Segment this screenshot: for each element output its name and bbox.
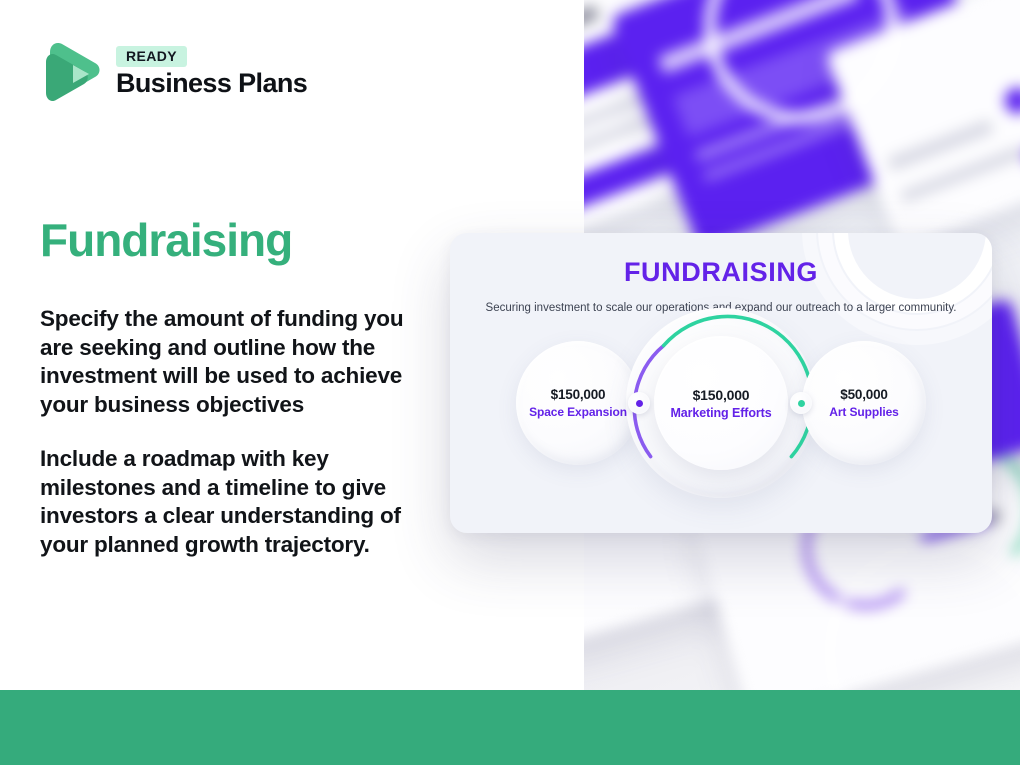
page-title: Fundraising [40, 215, 292, 266]
connector-knob-left [628, 392, 650, 414]
connector-knob-right [790, 392, 812, 414]
body-copy: Specify the amount of funding you are se… [40, 305, 425, 560]
funding-label: Art Supplies [829, 405, 898, 419]
brand-wordmark: READY Business Plans [116, 46, 307, 99]
funding-node-art-supplies[interactable]: $50,000 Art Supplies [802, 341, 926, 465]
card-title: FUNDRAISING [450, 257, 992, 288]
funding-label: Marketing Efforts [670, 406, 771, 420]
center-node-inner: $150,000 Marketing Efforts [654, 336, 788, 470]
funding-amount: $150,000 [551, 387, 606, 402]
ready-badge: READY [116, 46, 187, 67]
fundraising-card: FUNDRAISING Securing investment to scale… [450, 233, 992, 533]
connector-dot-green [798, 400, 805, 407]
funding-node-space-expansion[interactable]: $150,000 Space Expansion [516, 341, 640, 465]
funding-label: Space Expansion [529, 405, 627, 419]
card-ring-decoration [802, 233, 992, 345]
slide-page: READY Business Plans Fundraising Specify… [0, 0, 1020, 765]
paragraph-2: Include a roadmap with key milestones an… [40, 445, 425, 559]
funding-allocation-diagram: $150,000 Space Expansion $150,000 Market… [450, 343, 992, 523]
funding-node-marketing-efforts[interactable]: $150,000 Marketing Efforts [626, 308, 816, 498]
funding-amount: $50,000 [840, 387, 887, 402]
play-logo-icon [40, 38, 102, 106]
funding-amount: $150,000 [693, 387, 750, 403]
paragraph-1: Specify the amount of funding you are se… [40, 305, 425, 419]
footer-bar [0, 690, 1020, 765]
connector-dot-purple [636, 400, 643, 407]
brand-name: Business Plans [116, 69, 307, 99]
brand-logo[interactable]: READY Business Plans [40, 38, 307, 106]
